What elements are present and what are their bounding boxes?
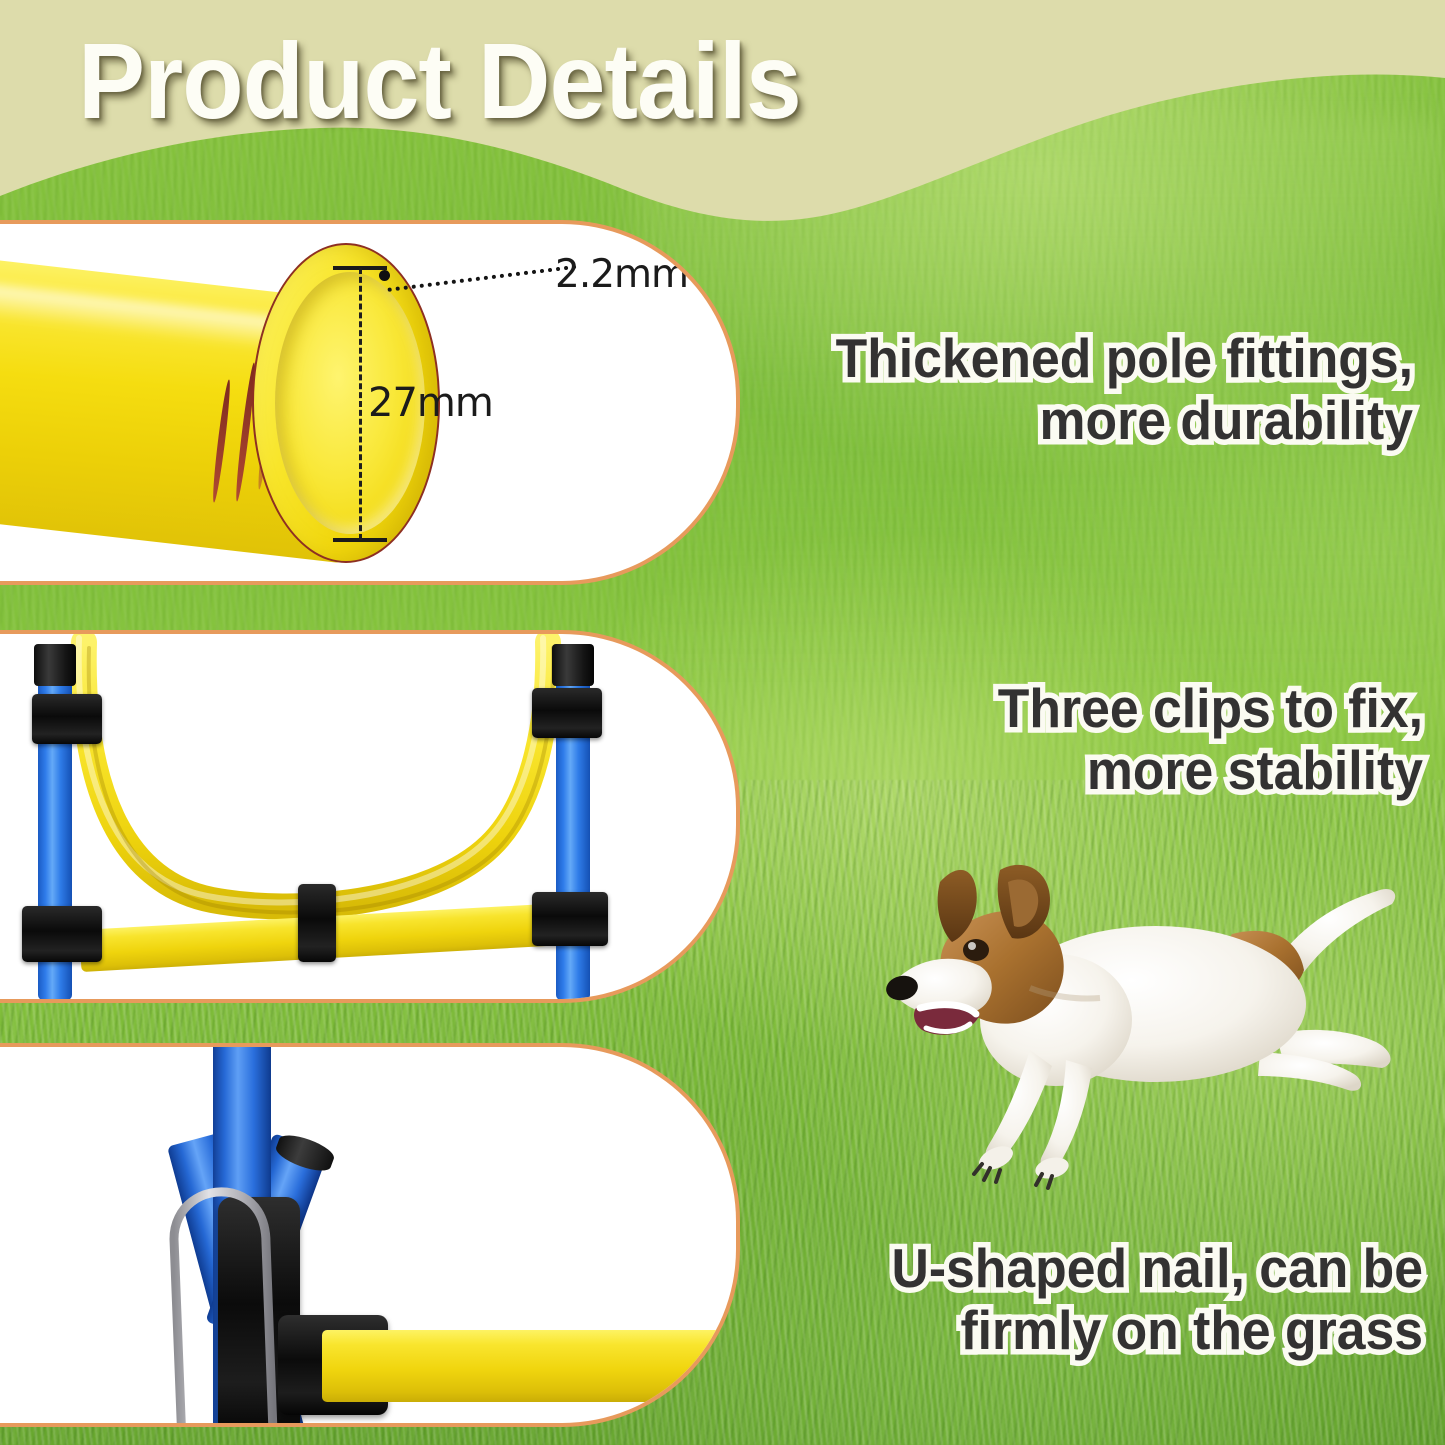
callout-line-1: U-shaped nail, can be bbox=[784, 1238, 1423, 1300]
dog-photo bbox=[880, 838, 1420, 1238]
callout-line-1: Thickened pole fittings, bbox=[793, 328, 1413, 390]
pole-cap-right bbox=[552, 644, 594, 686]
pole-cap-lower bbox=[153, 1424, 216, 1427]
panel-u-nail bbox=[0, 1043, 740, 1427]
dimension-label-diameter: 27mm bbox=[368, 380, 493, 426]
clip-center bbox=[298, 884, 336, 962]
page-title: Product Details bbox=[78, 26, 859, 146]
panel-pole-fitting: 27mm 2.2mm bbox=[0, 220, 740, 585]
callout-u-nail: U-shaped nail, can be firmly on the gras… bbox=[784, 1238, 1423, 1361]
callout-thickened-pole: Thickened pole fittings, more durability bbox=[793, 328, 1413, 451]
pole-cap-left bbox=[34, 644, 76, 686]
connector-bottom-left bbox=[22, 906, 102, 962]
dimension-line-diameter bbox=[359, 268, 362, 540]
crossbar-yellow bbox=[322, 1330, 740, 1402]
callout-line-2: more durability bbox=[793, 390, 1413, 452]
dimension-label-thickness: 2.2mm bbox=[555, 252, 688, 297]
leader-line-dotted bbox=[386, 253, 577, 292]
panel-three-clips bbox=[0, 630, 740, 1003]
header-banner: Product Details bbox=[0, 0, 1445, 245]
connector-bottom-right bbox=[532, 892, 608, 946]
callout-three-clips: Three clips to fix, more stability bbox=[859, 678, 1423, 801]
product-details-infographic: Product Details 27mm 2.2mm bbox=[0, 0, 1445, 1445]
clip-upper-right bbox=[532, 688, 602, 738]
callout-line-1: Three clips to fix, bbox=[859, 678, 1423, 740]
u-shaped-nail-icon bbox=[156, 1143, 336, 1427]
clip-upper-left bbox=[32, 694, 102, 744]
callout-line-2: more stability bbox=[859, 740, 1423, 802]
callout-line-2: firmly on the grass bbox=[784, 1300, 1423, 1362]
